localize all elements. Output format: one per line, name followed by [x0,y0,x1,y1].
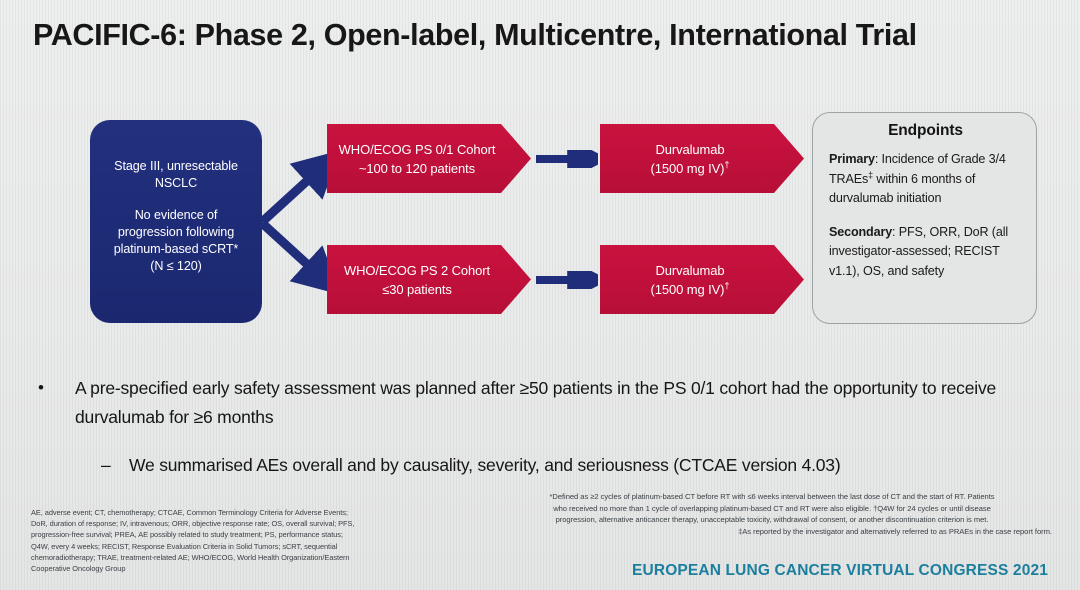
treatment-2-dose: (1500 mg IV)† [650,280,729,299]
slide-canvas: PACIFIC-6: Phase 2, Open-label, Multicen… [0,0,1080,590]
population-line-6: (N ≤ 120) [102,258,250,275]
cohort-2-label: WHO/ECOG PS 2 Cohort [344,261,490,280]
congress-banner: EUROPEAN LUNG CANCER VIRTUAL CONGRESS 20… [0,562,1048,580]
endpoints-panel: Endpoints Primary: Incidence of Grade 3/… [812,112,1037,324]
footnote-line-2: who received no more than 1 cycle of ove… [492,503,1052,515]
bullet-list: A pre-specified early safety assessment … [33,374,1043,479]
population-line-5: platinum-based sCRT* [102,241,250,258]
connector-arrow-bottom [536,271,598,289]
treatment-2-footnote-marker: † [724,280,729,290]
population-line-4: progression following [102,224,250,241]
cohort-1-chevron: WHO/ECOG PS 0/1 Cohort ~100 to 120 patie… [327,124,531,193]
population-line-3: No evidence of [102,207,250,224]
population-box: Stage III, unresectable NSCLC No evidenc… [90,120,262,323]
footnote-line-3: progression, alternative anticancer ther… [492,514,1052,526]
treatment-2-dose-text: (1500 mg IV) [650,282,724,297]
endpoint-primary-label: Primary [829,152,875,166]
treatment-1-chevron: Durvalumab (1500 mg IV)† [600,124,804,193]
cohort-2-chevron: WHO/ECOG PS 2 Cohort ≤30 patients [327,245,531,314]
treatment-1-footnote-marker: † [724,159,729,169]
endpoint-secondary-label: Secondary [829,225,892,239]
treatment-1-dose: (1500 mg IV)† [650,159,729,178]
endpoints-title: Endpoints [829,122,1022,140]
bullet-sub: We summarised AEs overall and by causali… [101,451,1043,479]
treatment-2-chevron: Durvalumab (1500 mg IV)† [600,245,804,314]
cohort-1-label: WHO/ECOG PS 0/1 Cohort [339,140,496,159]
cohort-1-size: ~100 to 120 patients [359,159,475,178]
treatment-1-drug: Durvalumab [655,140,724,159]
treatment-2-drug: Durvalumab [655,261,724,280]
footnote-line-4: ‡As reported by the investigator and alt… [492,526,1052,538]
endpoint-primary: Primary: Incidence of Grade 3/4 TRAEs‡ w… [829,150,1022,209]
connector-arrow-top [536,150,598,168]
branch-arrows [258,145,334,300]
page-title: PACIFIC-6: Phase 2, Open-label, Multicen… [33,18,1033,53]
endpoint-secondary: Secondary: PFS, ORR, DoR (all investigat… [829,223,1022,282]
footnotes-block: *Defined as ≥2 cycles of platinum-based … [492,491,1052,537]
population-line-2: NSCLC [102,175,250,192]
footnote-line-1: *Defined as ≥2 cycles of platinum-based … [492,491,1052,503]
cohort-2-size: ≤30 patients [382,280,452,299]
bullet-primary: A pre-specified early safety assessment … [33,374,1043,432]
treatment-1-dose-text: (1500 mg IV) [650,161,724,176]
population-line-1: Stage III, unresectable [102,158,250,175]
population-spacer [102,192,250,207]
